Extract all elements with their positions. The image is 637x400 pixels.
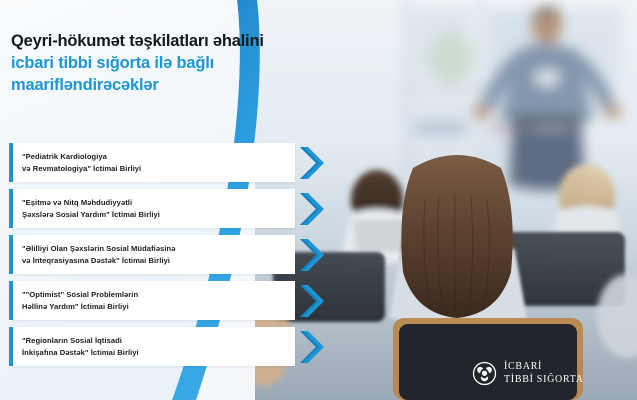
logo-line-2: TİBBİ SIĞORTA bbox=[504, 374, 584, 386]
page-title: Qeyri-hökumət təşkilatları əhalini icbar… bbox=[11, 31, 356, 96]
chevron-right-icon bbox=[298, 284, 328, 318]
list-item-label: "Əlilliyi Olan Şəxslərin Sosial Müdafiəs… bbox=[22, 243, 176, 266]
item-panel[interactable]: "Əlilliyi Olan Şəxslərin Sosial Müdafiəs… bbox=[13, 235, 295, 274]
poster-canvas: Qeyri-hökumət təşkilatları əhalini icbar… bbox=[0, 0, 637, 400]
chevron-right-glyph bbox=[298, 284, 328, 318]
item-panel[interactable]: ""Optimist" Sosial Problemlərin Həllinə … bbox=[13, 281, 295, 320]
logo-wordmark: İCBARİ TİBBİ SIĞORTA bbox=[504, 361, 584, 386]
chevron-right-icon bbox=[298, 238, 328, 272]
list-item[interactable]: "Regionların Sosial İqtisadi İnkişafına … bbox=[9, 327, 295, 366]
item-panel[interactable]: "Eşitmə və Nitq Məhdudiyyətli Şəxslərə S… bbox=[13, 189, 295, 228]
chevron-right-glyph bbox=[298, 192, 328, 226]
chevron-right-icon bbox=[298, 330, 328, 364]
item-panel[interactable]: "Regionların Sosial İqtisadi İnkişafına … bbox=[13, 327, 295, 366]
list-item-label: "Regionların Sosial İqtisadi İnkişafına … bbox=[22, 335, 139, 358]
list-item[interactable]: ""Optimist" Sosial Problemlərin Həllinə … bbox=[9, 281, 295, 320]
insurance-circle-logo-icon bbox=[472, 361, 497, 386]
list-item[interactable]: "Əlilliyi Olan Şəxslərin Sosial Müdafiəs… bbox=[9, 235, 295, 274]
list-item-label: "Eşitmə və Nitq Məhdudiyyətli Şəxslərə S… bbox=[22, 197, 160, 220]
list-item-label: "Pediatrik Kardiologiya və Revmatologiya… bbox=[22, 151, 141, 174]
content-pane: Qeyri-hökumət təşkilatları əhalini icbar… bbox=[0, 0, 300, 400]
chevron-right-icon bbox=[298, 146, 328, 180]
chevron-right-glyph bbox=[298, 330, 328, 364]
item-panel[interactable]: "Pediatrik Kardiologiya və Revmatologiya… bbox=[13, 143, 295, 182]
logo-mark-glyph bbox=[472, 361, 497, 386]
list-item[interactable]: "Pediatrik Kardiologiya və Revmatologiya… bbox=[9, 143, 295, 182]
brand-logo: İCBARİ TİBBİ SIĞORTA bbox=[472, 361, 584, 386]
list-item[interactable]: "Eşitmə və Nitq Məhdudiyyətli Şəxslərə S… bbox=[9, 189, 295, 228]
organization-list: "Pediatrik Kardiologiya və Revmatologiya… bbox=[9, 143, 295, 373]
chevron-right-icon bbox=[298, 192, 328, 226]
headline-line-1: Qeyri-hökumət təşkilatları əhalini bbox=[11, 31, 356, 53]
chevron-right-glyph bbox=[298, 146, 328, 180]
logo-line-1: İCBARİ bbox=[504, 361, 584, 373]
headline-line-3: maarifləndirəcəklər bbox=[11, 75, 356, 97]
chevron-right-glyph bbox=[298, 238, 328, 272]
headline-line-2: icbari tibbi sığorta ilə bağlı bbox=[11, 53, 356, 75]
list-item-label: ""Optimist" Sosial Problemlərin Həllinə … bbox=[22, 289, 138, 312]
